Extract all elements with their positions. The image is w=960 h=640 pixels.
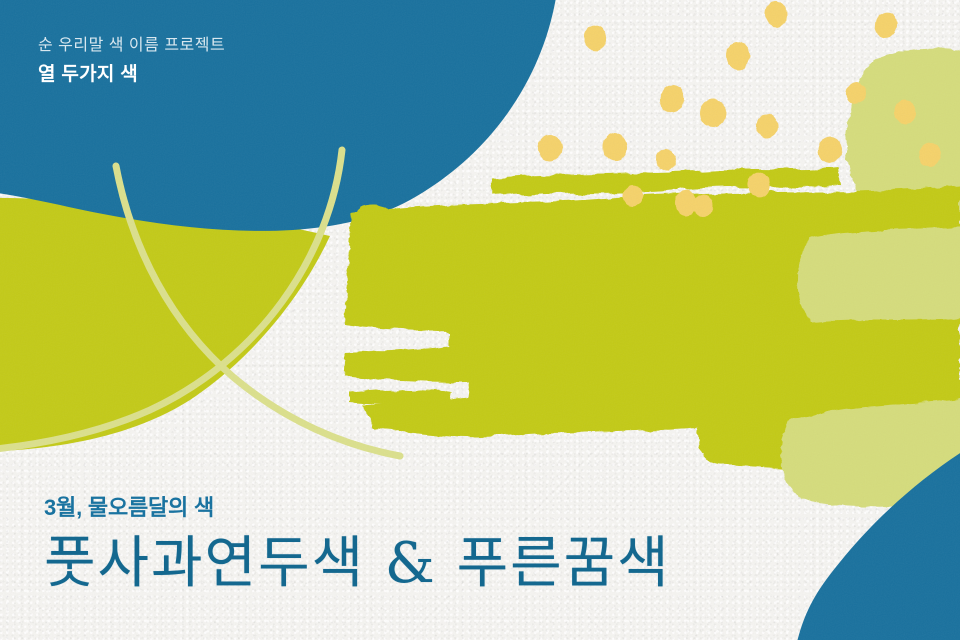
poster-canvas: 순 우리말 색 이름 프로젝트 열 두가지 색 3월, 물오름달의 색 풋사과연… [0,0,960,640]
project-kicker: 순 우리말 색 이름 프로젝트 [38,34,225,58]
project-brand-title: 열 두가지 색 [38,62,225,89]
header-block: 순 우리말 색 이름 프로젝트 열 두가지 색 [38,34,225,89]
month-label: 3월, 물오름달의 색 [44,490,671,522]
footer-block: 3월, 물오름달의 색 풋사과연두색 & 푸른꿈색 [44,490,671,592]
color-names-title: 풋사과연두색 & 푸른꿈색 [44,536,671,592]
